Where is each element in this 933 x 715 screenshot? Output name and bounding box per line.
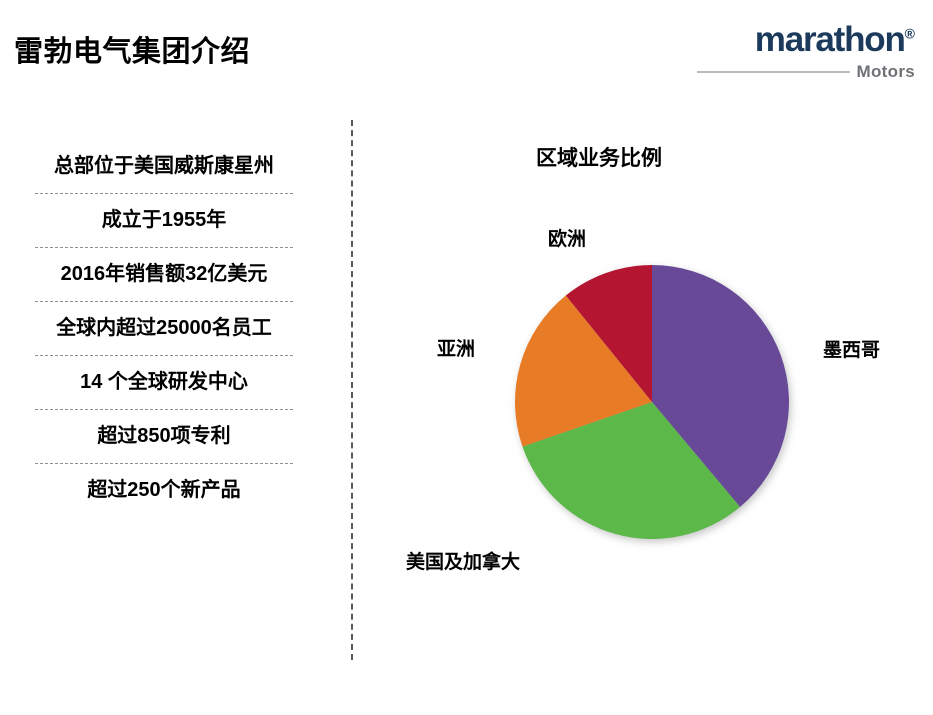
page-title: 雷勃电气集团介绍 [14,28,250,70]
logo-divider-rule [697,71,850,73]
slide-canvas: 雷勃电气集团介绍 marathon® Motors 总部位于美国威斯康星州 成立… [0,0,933,715]
pie-label-europe: 欧洲 [548,224,586,251]
column-divider [351,120,353,660]
registered-trademark-icon: ® [905,25,915,41]
list-item: 14 个全球研发中心 [18,356,310,409]
list-item: 超过850项专利 [18,410,310,463]
list-item: 全球内超过25000名员工 [18,302,310,355]
chart-title: 区域业务比例 [536,142,662,172]
list-item: 2016年销售额32亿美元 [18,248,310,301]
list-item: 超过250个新产品 [18,464,310,517]
facts-list: 总部位于美国威斯康星州 成立于1955年 2016年销售额32亿美元 全球内超过… [18,140,310,517]
brand-logo: marathon® Motors [697,22,915,82]
list-item: 总部位于美国威斯康星州 [18,140,310,193]
logo-subtitle: Motors [857,62,915,82]
pie-label-mexico: 墨西哥 [823,335,880,362]
logo-wordmark: marathon® [697,22,915,57]
list-item: 成立于1955年 [18,194,310,247]
logo-wordmark-text: marathon [755,20,905,59]
pie-label-asia: 亚洲 [437,334,475,361]
pie-slices-group [515,265,789,539]
pie-label-usa-canada: 美国及加拿大 [406,547,520,574]
pie-chart: 欧洲 亚洲 墨西哥 美国及加拿大 [380,210,920,610]
logo-subtitle-row: Motors [697,62,915,82]
